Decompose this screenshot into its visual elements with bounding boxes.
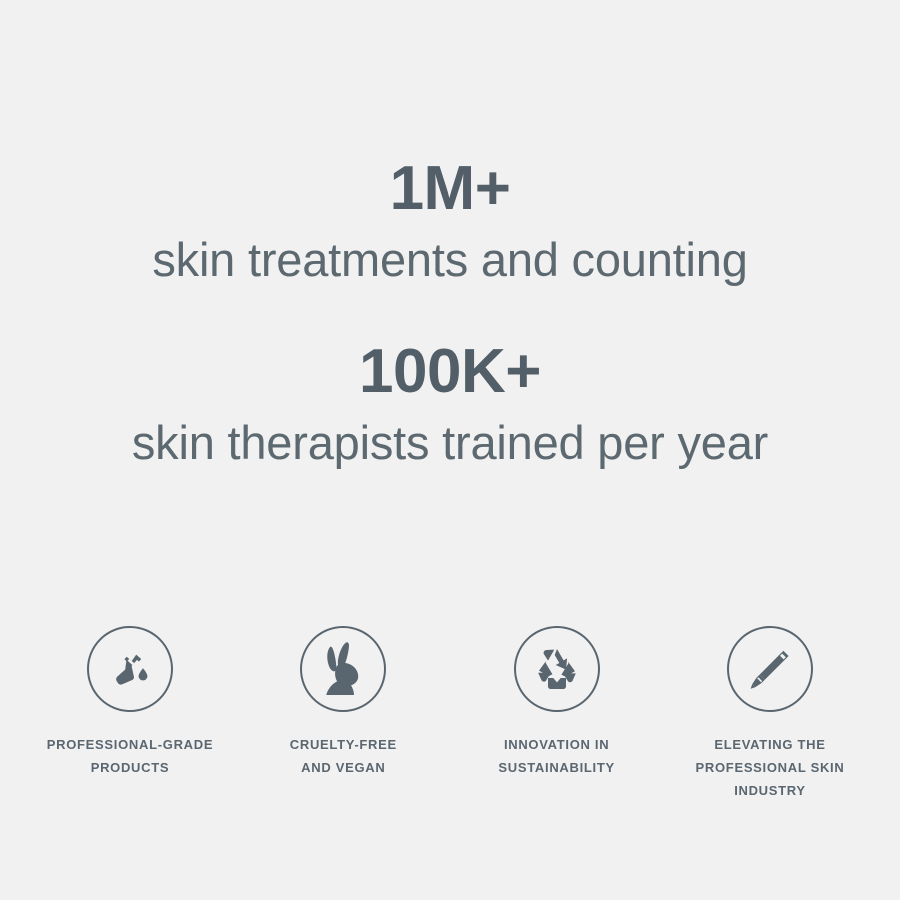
stats-section: 1M+ skin treatments and counting 100K+ s… [0, 0, 900, 469]
badge-label-line: CRUELTY-FREE [290, 734, 397, 757]
badges-row: PROFESSIONAL-GRADE PRODUCTS [30, 626, 870, 802]
stat-caption-treatments: skin treatments and counting [0, 234, 900, 287]
badge-label: INNOVATION IN SUSTAINABILITY [498, 734, 614, 780]
badge-label-line: PROFESSIONAL SKIN [696, 757, 845, 780]
badge-label-line: PROFESSIONAL-GRADE [47, 734, 213, 757]
pen-icon [745, 644, 795, 694]
stat-caption-therapists: skin therapists trained per year [0, 417, 900, 470]
badge-innovation-in-sustainability: INNOVATION IN SUSTAINABILITY [457, 626, 657, 780]
badge-circle [300, 626, 386, 712]
badge-label-line: INNOVATION IN [498, 734, 614, 757]
badge-label-line: INDUSTRY [696, 780, 845, 803]
flask-droplet-icon [107, 646, 153, 692]
stat-group-treatments: 1M+ skin treatments and counting [0, 158, 900, 287]
brand-stats-panel: 1M+ skin treatments and counting 100K+ s… [0, 0, 900, 900]
badge-label-line: AND VEGAN [290, 757, 397, 780]
stat-figure-therapists: 100K+ [0, 341, 900, 403]
badge-label: ELEVATING THE PROFESSIONAL SKIN INDUSTRY [696, 734, 845, 802]
badge-circle [87, 626, 173, 712]
badge-label: PROFESSIONAL-GRADE PRODUCTS [47, 734, 213, 780]
badge-elevating-professional-skin-industry: ELEVATING THE PROFESSIONAL SKIN INDUSTRY [670, 626, 870, 802]
recycle-icon [533, 646, 581, 692]
stat-figure-treatments: 1M+ [0, 158, 900, 220]
badge-label: CRUELTY-FREE AND VEGAN [290, 734, 397, 780]
stat-group-therapists: 100K+ skin therapists trained per year [0, 341, 900, 470]
badge-label-line: SUSTAINABILITY [498, 757, 614, 780]
badge-circle [514, 626, 600, 712]
badge-label-line: PRODUCTS [47, 757, 213, 780]
badge-cruelty-free-and-vegan: CRUELTY-FREE AND VEGAN [243, 626, 443, 780]
rabbit-icon [316, 639, 370, 699]
badge-circle [727, 626, 813, 712]
badge-professional-grade-products: PROFESSIONAL-GRADE PRODUCTS [30, 626, 230, 780]
badge-label-line: ELEVATING THE [696, 734, 845, 757]
